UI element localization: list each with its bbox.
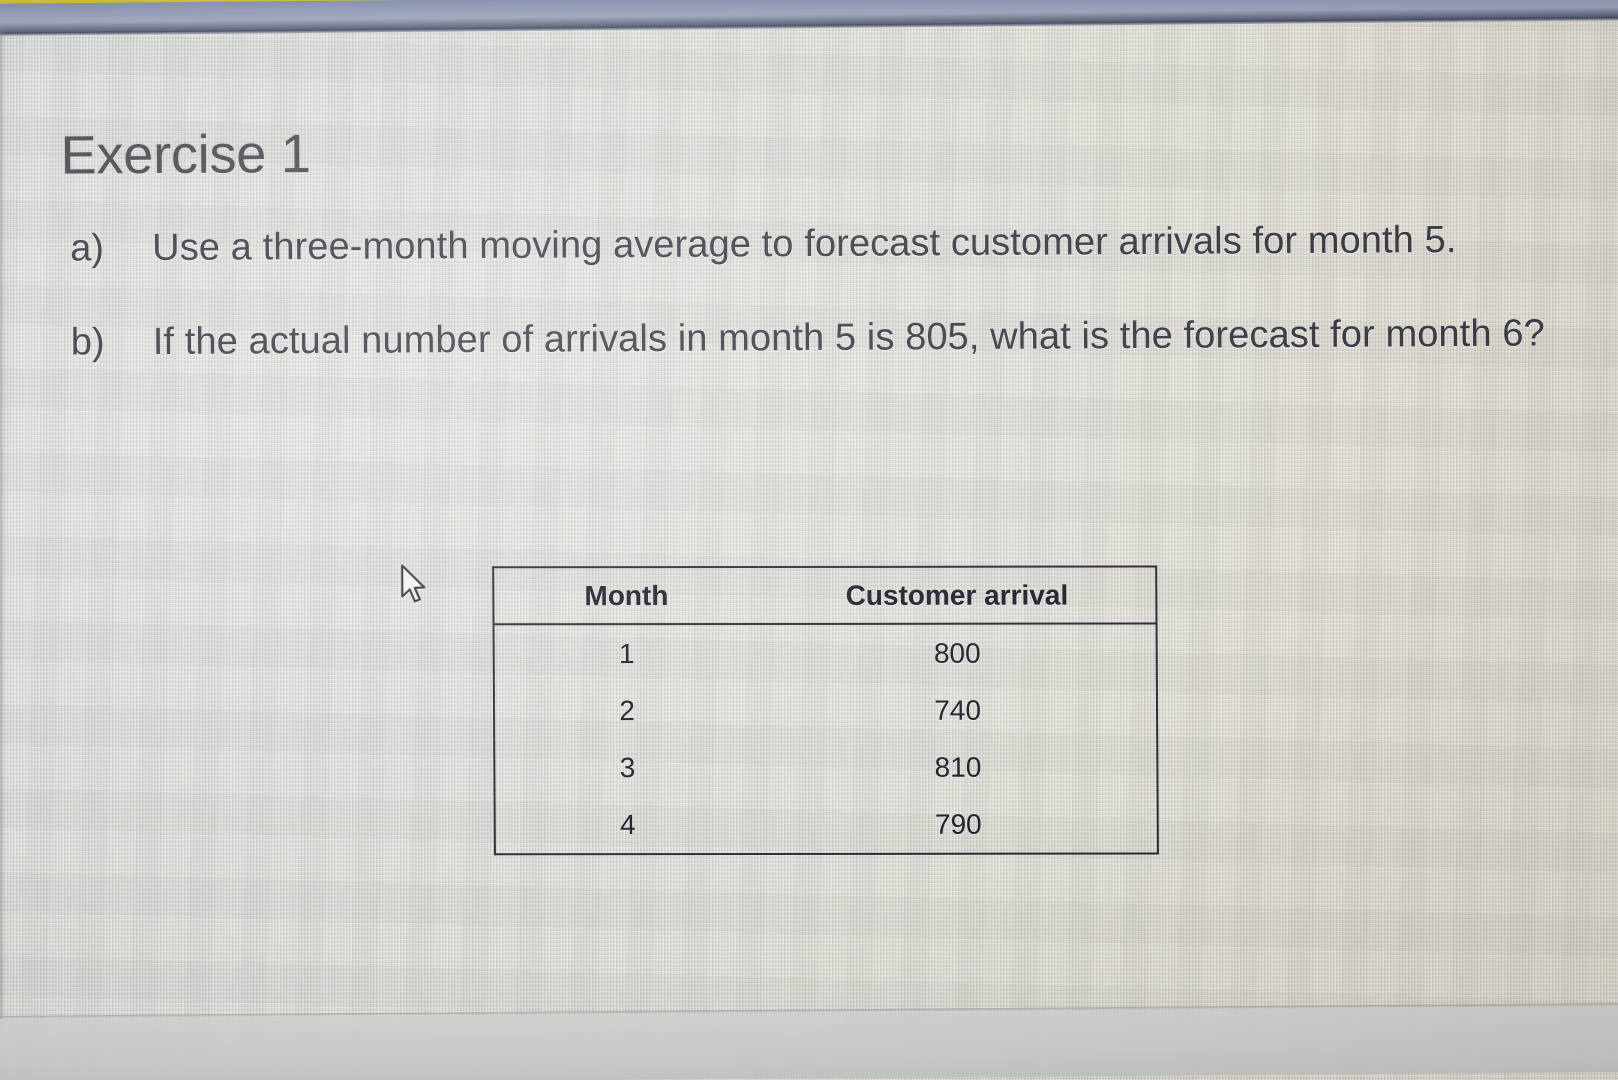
cell-arrival: 740 xyxy=(759,681,1157,738)
arrivals-table: Month Customer arrival 1 800 2 740 3 xyxy=(492,565,1159,855)
slide-bottom-band xyxy=(0,1006,1618,1080)
table-header-row: Month Customer arrival xyxy=(493,566,1156,624)
cell-month: 3 xyxy=(494,739,760,796)
table-header: Month Customer arrival xyxy=(493,566,1156,624)
column-header-customer-arrival: Customer arrival xyxy=(758,566,1156,623)
cell-month: 2 xyxy=(494,682,760,739)
page-title: Exercise 1 xyxy=(60,123,310,187)
column-header-month: Month xyxy=(493,567,759,624)
question-item-b: b) If the actual number of arrivals in m… xyxy=(71,302,1618,373)
screen-photo: Exercise 1 a) Use a three-month moving a… xyxy=(0,0,1618,1080)
question-marker-a: a) xyxy=(70,218,152,280)
cell-arrival: 790 xyxy=(760,795,1158,853)
cell-arrival: 810 xyxy=(759,738,1157,795)
question-item-a: a) Use a three-month moving average to f… xyxy=(70,209,1618,280)
table-row: 4 790 xyxy=(495,795,1158,854)
question-list: a) Use a three-month moving average to f… xyxy=(70,209,1618,406)
table-row: 2 740 xyxy=(494,681,1157,739)
table-row: 1 800 xyxy=(494,623,1157,682)
arrow-cursor-icon xyxy=(398,563,432,607)
slide-content: Exercise 1 a) Use a three-month moving a… xyxy=(0,0,1618,1080)
table-row: 3 810 xyxy=(494,738,1157,796)
question-text-a: Use a three-month moving average to fore… xyxy=(152,209,1618,280)
cell-month: 1 xyxy=(494,624,760,682)
arrivals-table-container: Month Customer arrival 1 800 2 740 3 xyxy=(492,565,1159,855)
question-text-b: If the actual number of arrivals in mont… xyxy=(153,302,1618,373)
question-marker-b: b) xyxy=(71,312,153,374)
cell-month: 4 xyxy=(495,796,761,854)
table-body: 1 800 2 740 3 810 4 790 xyxy=(494,623,1158,854)
cell-arrival: 800 xyxy=(759,623,1157,681)
